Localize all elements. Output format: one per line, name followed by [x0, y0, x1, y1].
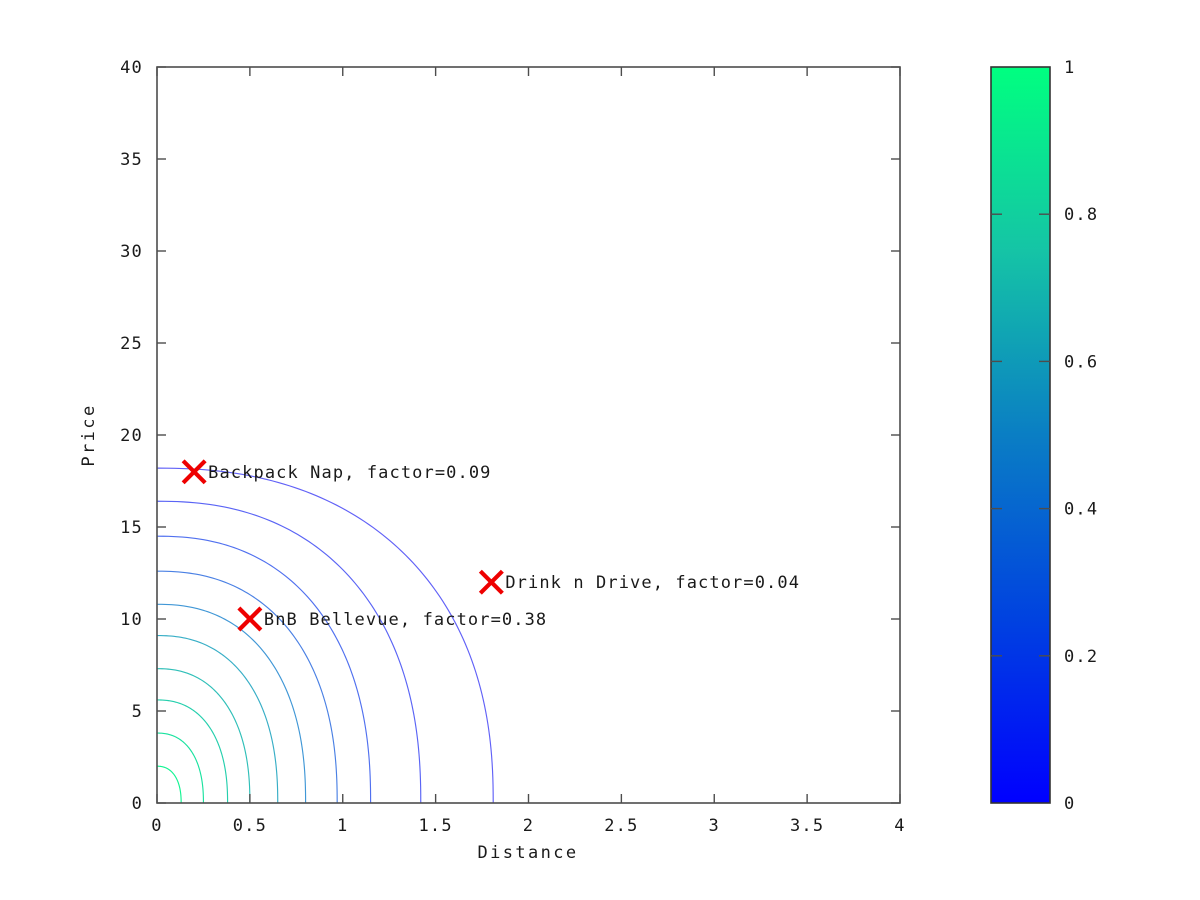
colorbar-tick-label: 1 — [1064, 58, 1075, 78]
contour-plot-figure: 00.511.522.533.54 0510152025303540 Dista… — [0, 0, 1200, 900]
x-tick-label: 0 — [151, 816, 162, 836]
colorbar-gradient — [991, 67, 1050, 803]
y-tick-label: 5 — [132, 702, 143, 722]
y-tick-label: 25 — [120, 334, 143, 354]
x-tick-label: 0.5 — [233, 816, 267, 836]
marker-group-item[interactable]: Drink n Drive, factor=0.04 — [480, 571, 800, 593]
colorbar-tick-label: 0.6 — [1064, 352, 1098, 372]
figure-canvas: 00.511.522.533.54 0510152025303540 Dista… — [0, 0, 1200, 900]
y-tick-label: 0 — [132, 794, 143, 814]
colorbar-tick-label: 0 — [1064, 794, 1075, 814]
y-tick-label: 40 — [120, 58, 143, 78]
x-tick-label: 1 — [337, 816, 348, 836]
x-tick-label: 2 — [523, 816, 534, 836]
y-tick-label: 10 — [120, 610, 143, 630]
marker-group-item[interactable]: BnB Bellevue, factor=0.38 — [239, 608, 547, 630]
x-tick-label: 3 — [709, 816, 720, 836]
colorbar-tick-label: 0.8 — [1064, 205, 1098, 225]
y-tick-label: 30 — [120, 242, 143, 262]
y-axis-title: Price — [79, 403, 99, 466]
x-tick-label: 4 — [894, 816, 905, 836]
plot-area-background — [157, 67, 900, 803]
x-tick-label: 2.5 — [604, 816, 638, 836]
y-tick-label: 15 — [120, 518, 143, 538]
colorbar-tick-label: 0.2 — [1064, 647, 1098, 667]
colorbar-tick-label: 0.4 — [1064, 500, 1098, 520]
y-tick-label: 20 — [120, 426, 143, 446]
x-tick-label: 1.5 — [418, 816, 452, 836]
marker-label: BnB Bellevue, factor=0.38 — [264, 610, 547, 630]
y-tick-label: 35 — [120, 150, 143, 170]
marker-label: Backpack Nap, factor=0.09 — [208, 463, 491, 483]
marker-group-item[interactable]: Backpack Nap, factor=0.09 — [183, 461, 491, 483]
x-axis-title: Distance — [477, 843, 578, 863]
marker-label: Drink n Drive, factor=0.04 — [505, 573, 800, 593]
x-tick-label: 3.5 — [790, 816, 824, 836]
